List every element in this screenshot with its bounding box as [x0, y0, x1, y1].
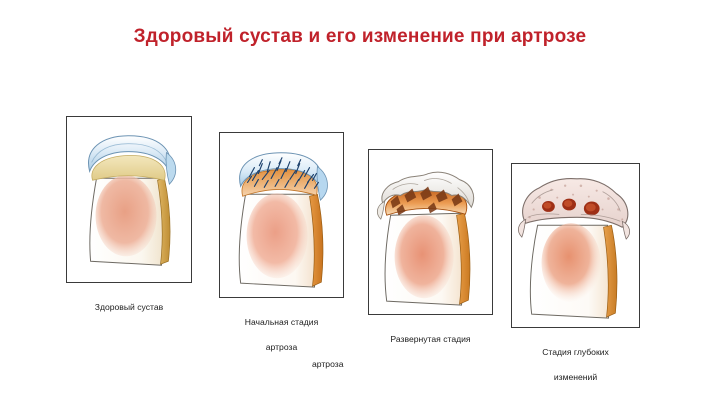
healthy-joint-illustration	[67, 117, 191, 282]
panel-frame	[511, 163, 640, 328]
caption-line-1: Начальная стадия	[211, 316, 352, 328]
panel-frame	[219, 132, 344, 298]
deep-changes-illustration	[512, 164, 639, 327]
advanced-stage-illustration	[369, 150, 492, 314]
panel-frame	[66, 116, 192, 283]
caption-line-2: изменений	[505, 371, 646, 383]
panel-initial-stage: Начальная стадия артроза	[219, 132, 344, 298]
caption-line-1: Здоровый сустав	[62, 301, 196, 313]
caption-initial-stage: Начальная стадия артроза	[211, 304, 352, 366]
caption-line-2: артроза	[312, 358, 503, 370]
panel-healthy-joint: Здоровый сустав	[66, 116, 192, 283]
initial-stage-illustration	[220, 133, 343, 297]
caption-advanced-stage: Развернутая стадия артроза	[358, 321, 503, 383]
illustration-canvas: Здоровый сустав и его изменение при артр…	[0, 0, 720, 419]
caption-line-1: Развернутая стадия	[358, 333, 503, 345]
panel-frame	[368, 149, 493, 315]
caption-line-2: артроза	[211, 341, 352, 353]
panel-deep-changes-stage: Стадия глубоких изменений	[511, 163, 640, 328]
caption-deep-changes-stage: Стадия глубоких изменений	[505, 334, 646, 396]
page-title: Здоровый сустав и его изменение при артр…	[0, 26, 720, 48]
caption-healthy-joint: Здоровый сустав	[62, 289, 196, 326]
caption-line-1: Стадия глубоких	[505, 346, 646, 358]
panel-advanced-stage: Развернутая стадия артроза	[368, 149, 493, 315]
